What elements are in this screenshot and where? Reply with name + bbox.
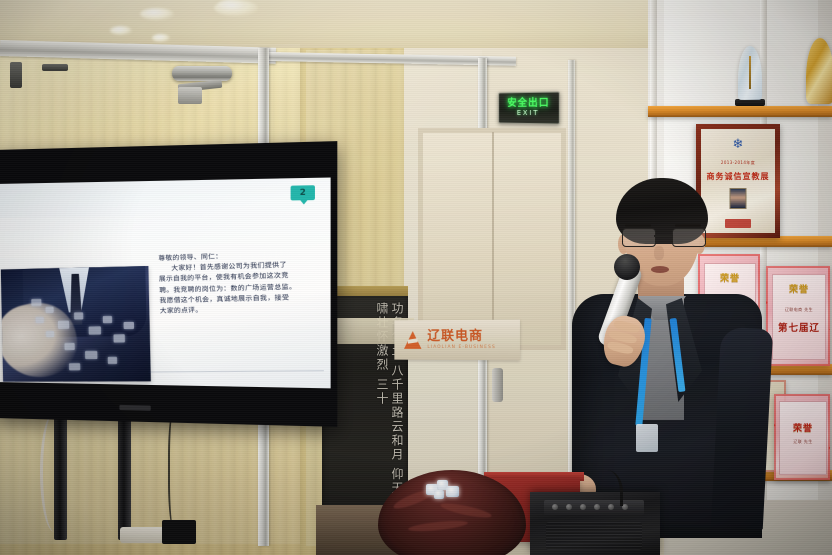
photo-digital-block (69, 363, 80, 370)
slide-divider-rule (149, 370, 324, 372)
acrylic-small-text: 辽联电商 先生 (785, 307, 813, 313)
pa-speaker-amplifier (530, 492, 660, 555)
photo-digital-block (64, 343, 74, 350)
glasses-bridge (654, 235, 672, 237)
company-banner: 辽联电商 LIAOLIAN E-BUSINESS (394, 320, 520, 361)
exit-sign-chinese: 安全出口 (507, 98, 549, 109)
slide-body-text: 尊敬的领导、同仁： 大家好！首先感谢公司为我们提供了 展示自我的平台，使我有机会… (158, 248, 320, 316)
photo-digital-block (108, 357, 117, 364)
amp-knob[interactable] (552, 504, 558, 510)
amp-knob[interactable] (580, 504, 586, 510)
ceiling-light (140, 8, 174, 20)
tv-display: 2 (0, 141, 337, 427)
id-badge (636, 424, 658, 452)
eyebrow (675, 224, 701, 227)
presentation-room-photo: 安全出口 EXIT 功名尘土 八千里路云和月 仰天长啸壮怀激烈 三十 辽联电商 … (0, 0, 832, 555)
photo-digital-block (58, 321, 69, 329)
banner-chinese-name: 辽联电商 (427, 330, 496, 343)
hinge-icon (10, 62, 22, 88)
acrylic-award-lower-right: 荣誉 辽联 先生 (774, 394, 830, 480)
door-handle[interactable] (492, 368, 503, 402)
door-closer-icon (172, 66, 232, 81)
glasses-lens-left (622, 228, 656, 247)
amp-control-panel[interactable] (544, 500, 644, 515)
certificate-logo-icon: ❄ (733, 138, 744, 151)
power-cable (40, 412, 69, 532)
photo-digital-block (46, 307, 54, 313)
door-seam (492, 132, 494, 346)
acrylic-big-text: 第七届辽 (778, 320, 820, 334)
certificate-year: 2013-2014年度 (721, 160, 755, 166)
tv-screen: 2 (0, 177, 331, 388)
slide-photo (1, 266, 151, 382)
acrylic-award-right: 荣誉 辽联电商 先生 第七届辽 (766, 266, 830, 366)
exit-sign-english: EXIT (517, 109, 540, 118)
hair-clip (426, 480, 466, 498)
company-logo-icon (402, 330, 422, 351)
slide-number-badge: 2 (291, 185, 315, 200)
door-closer-plate (178, 87, 202, 104)
power-adapter (162, 520, 196, 544)
hair-strand (408, 519, 469, 533)
acrylic-face: 荣誉 辽联电商 先生 第七届辽 (772, 274, 826, 360)
hair-strand (440, 501, 493, 521)
acrylic-face: 荣誉 辽联 先生 (779, 401, 827, 475)
photo-digital-block (74, 312, 83, 319)
acrylic-small-text: 辽联 先生 (793, 439, 812, 445)
presenter (558, 178, 768, 538)
eyeglasses-icon (622, 228, 704, 245)
signal-cable (168, 404, 186, 534)
ceiling-light (152, 34, 170, 42)
acrylic-gold-text: 荣誉 (793, 421, 813, 434)
ceiling-light (110, 26, 132, 35)
hinge-icon (42, 64, 68, 71)
presentation-slide: 2 (0, 177, 331, 388)
shelf (648, 106, 832, 117)
photo-digital-block (124, 322, 135, 329)
photo-digital-block (89, 326, 101, 334)
amp-knob[interactable] (566, 504, 572, 510)
banner-english-name: LIAOLIAN E-BUSINESS (427, 346, 496, 351)
exit-sign: 安全出口 EXIT (498, 91, 560, 124)
amp-grille (546, 522, 642, 550)
slide-badge-number: 2 (300, 189, 306, 198)
photo-digital-block (113, 334, 125, 342)
eyebrow (625, 224, 651, 227)
trophy-base (735, 99, 765, 106)
gold-trophy (806, 38, 832, 104)
presenter-nose (654, 246, 664, 260)
tv-brand-logo (119, 405, 150, 411)
presenter-mouth (651, 266, 669, 273)
clip-gem (434, 490, 444, 499)
photo-digital-block (36, 317, 44, 323)
photo-digital-block (31, 299, 41, 306)
ceiling-light (214, 0, 258, 16)
presenter-right-arm (711, 327, 773, 529)
clip-gem (446, 486, 459, 497)
photo-digital-block (85, 351, 97, 359)
photo-digital-block (103, 316, 112, 323)
acrylic-gold-text: 荣誉 (789, 282, 809, 295)
glasses-lens-right (672, 228, 706, 247)
photo-digital-block (46, 331, 54, 337)
